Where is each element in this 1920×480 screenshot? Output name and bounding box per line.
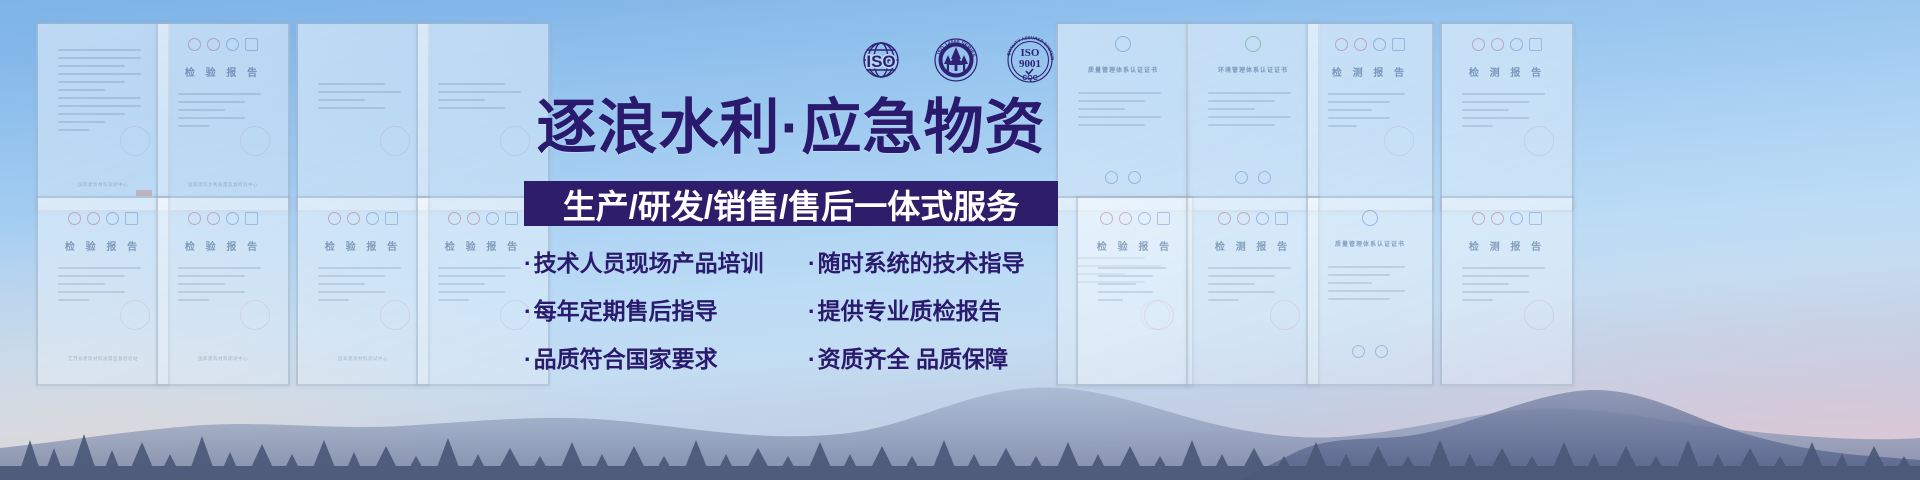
feature-row: · 每年定期售后指导 · 提供专业质检报告: [524, 292, 1064, 326]
feature-label: 每年定期售后指导: [534, 292, 718, 326]
certification-badges: ISO: [855, 36, 1055, 89]
feature-label: 技术人员现场产品培训: [534, 244, 764, 278]
feature-item-1: · 技术人员现场产品培训: [524, 244, 808, 278]
feature-row: · 技术人员现场产品培训 · 随时系统的技术指导: [524, 244, 1064, 278]
svg-text:9001: 9001: [1019, 58, 1041, 70]
subtitle-text: 生产/研发/销售/售后一体式服务: [563, 180, 1020, 228]
feature-item-4: · 提供专业质检报告: [808, 292, 1002, 326]
page-title: 逐浪水利·应急物资: [508, 98, 1074, 158]
feature-label: 随时系统的技术指导: [818, 244, 1025, 278]
iso-globe-badge: ISO: [855, 38, 907, 87]
svg-text:CQC: CQC: [1022, 75, 1038, 82]
bullet-icon: ·: [808, 252, 816, 275]
feature-label: 提供专业质检报告: [818, 292, 1002, 326]
feature-row: · 品质符合国家要求 · 资质齐全 品质保障: [524, 340, 1064, 374]
iso-14000-badge: ISO 14000 SERIES: [933, 37, 979, 88]
feature-item-5: · 品质符合国家要求: [524, 340, 808, 374]
feature-item-3: · 每年定期售后指导: [524, 292, 808, 326]
bullet-icon: ·: [808, 300, 816, 323]
feature-list: · 技术人员现场产品培训 · 随时系统的技术指导 · 每年定期售后指导 · 提供…: [524, 244, 1064, 388]
iso-9001-cqc-badge: ISO 9001 CQC QUALITY ASSURED SYSTEM: [1005, 36, 1055, 89]
bullet-icon: ·: [524, 348, 532, 371]
banner-root: 国家建筑材料测试中心检 验 报 告国家建筑水利质量监督检验中心 检 验 报 告江…: [0, 0, 1920, 480]
bullet-icon: ·: [808, 348, 816, 371]
subtitle-banner-bar: 生产/研发/销售/售后一体式服务: [524, 181, 1058, 226]
feature-item-6: · 资质齐全 品质保障: [808, 340, 1008, 374]
bullet-icon: ·: [524, 252, 532, 275]
svg-text:ISO: ISO: [866, 52, 895, 71]
feature-label: 品质符合国家要求: [534, 340, 718, 374]
feature-item-2: · 随时系统的技术指导: [808, 244, 1025, 278]
bullet-icon: ·: [524, 300, 532, 323]
banner-content: ISO: [0, 0, 1920, 480]
feature-label: 资质齐全 品质保障: [818, 340, 1008, 374]
